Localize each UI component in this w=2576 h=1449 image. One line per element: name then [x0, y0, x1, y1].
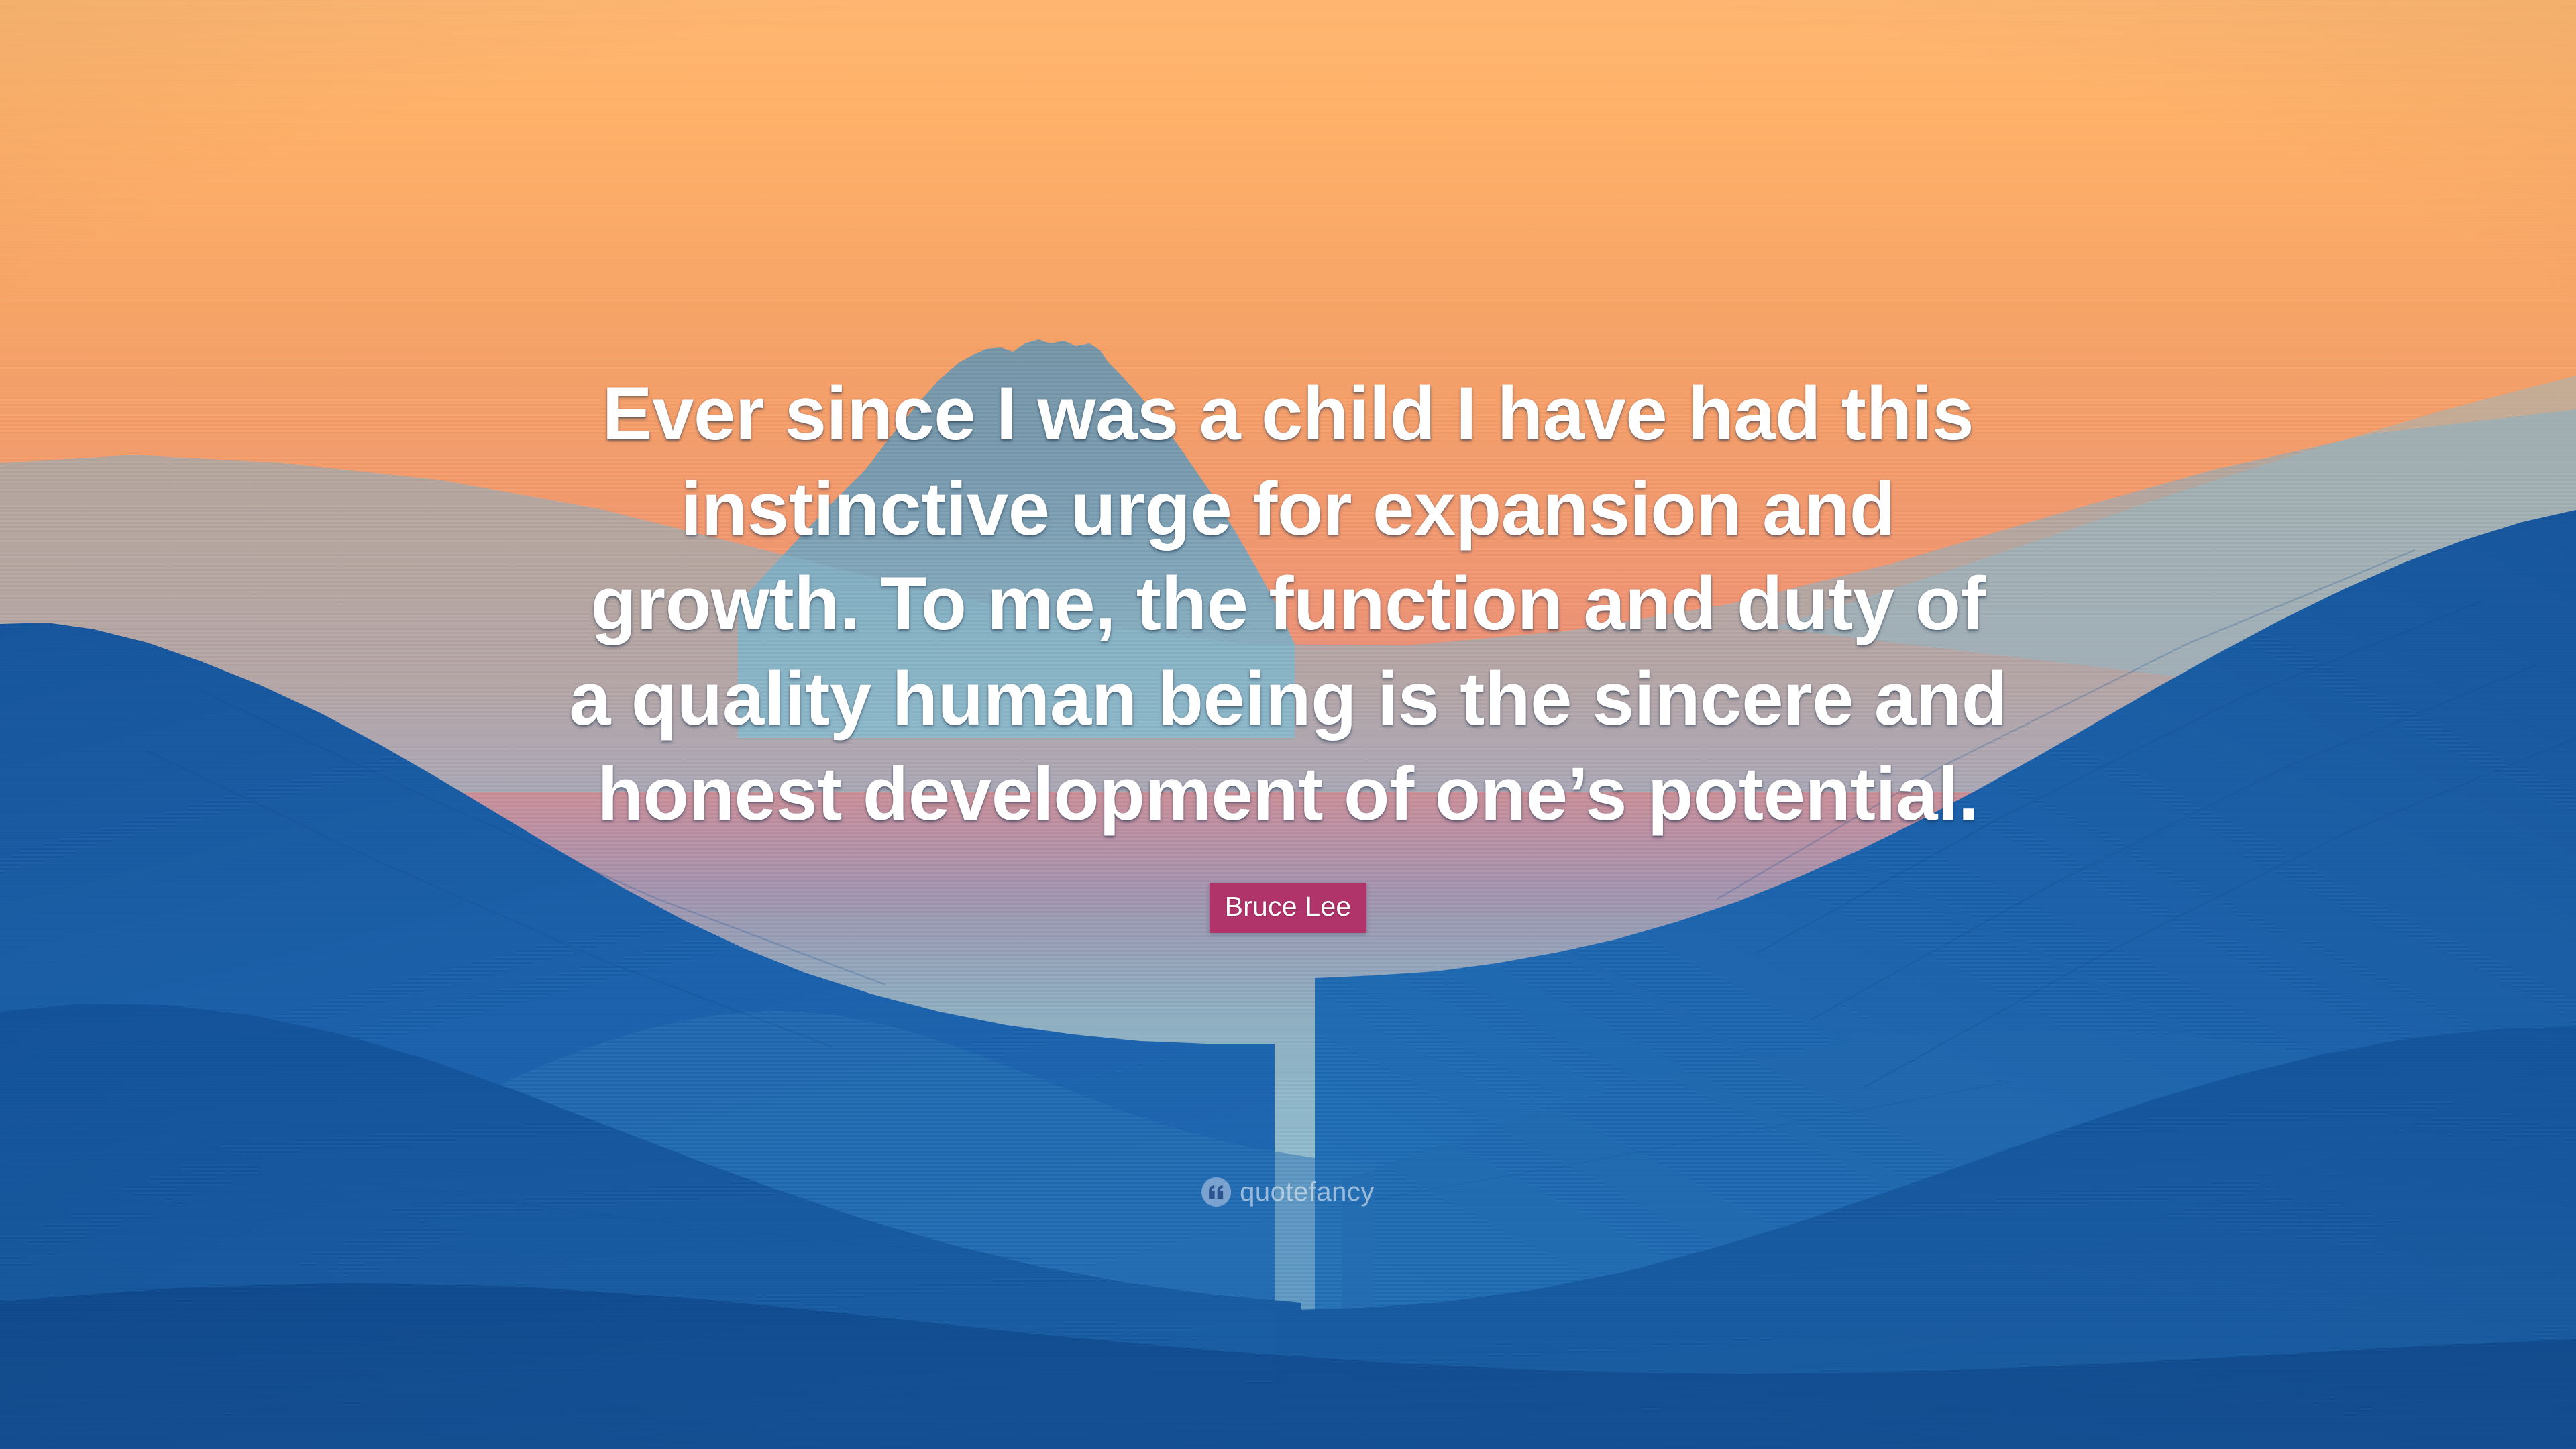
- quotefancy-watermark[interactable]: quotefancy: [1201, 1177, 1375, 1207]
- author-badge[interactable]: Bruce Lee: [1210, 883, 1367, 933]
- quote-line-3: growth. To me, the function and duty of: [476, 556, 2100, 651]
- watermark-brand: quotefancy: [1240, 1179, 1375, 1205]
- quote-line-2: instinctive urge for expansion and: [476, 462, 2100, 557]
- quote-content: Ever since I was a child I have had this…: [0, 0, 2576, 1449]
- quote-text: Ever since I was a child I have had this…: [476, 366, 2100, 841]
- quote-line-1: Ever since I was a child I have had this: [476, 366, 2100, 462]
- quote-wallpaper: Ever since I was a child I have had this…: [0, 0, 2576, 1449]
- quote-line-4: a quality human being is the sincere and: [476, 651, 2100, 747]
- quote-mark-icon: [1201, 1177, 1231, 1207]
- quote-line-5: honest development of one’s potential.: [476, 747, 2100, 842]
